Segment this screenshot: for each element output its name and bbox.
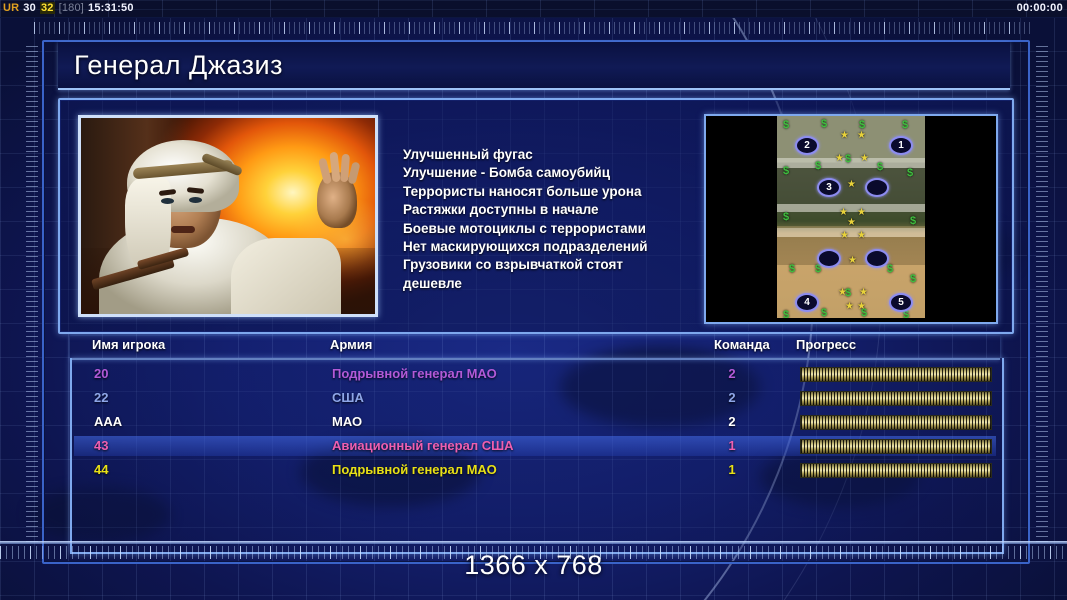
tech-building-icon: ★ <box>847 218 856 228</box>
supply-dock-icon: $ <box>783 212 789 223</box>
supply-dock-icon: $ <box>887 264 893 275</box>
match-timer: 00:00:00 <box>1017 1 1063 16</box>
cell-army: Подрывной генерал МАО <box>332 458 497 482</box>
supply-dock-icon: $ <box>845 154 851 165</box>
supply-dock-icon: $ <box>783 120 789 131</box>
progress-fill <box>801 392 991 405</box>
start-position-2[interactable]: 2 <box>795 136 819 155</box>
tech-building-icon: ★ <box>860 154 869 164</box>
cell-progress-bar <box>800 391 992 406</box>
tech-building-icon: ★ <box>840 131 849 141</box>
cell-army: Авиационный генерал США <box>332 434 514 458</box>
cell-team: 2 <box>720 386 744 410</box>
cell-progress-bar <box>800 463 992 478</box>
progress-fill <box>801 368 991 381</box>
supply-dock-icon: $ <box>783 166 789 177</box>
tech-building-icon: ★ <box>847 180 856 190</box>
tech-building-icon: ★ <box>835 154 844 164</box>
table-body: 20Подрывной генерал МАО222США2AAAМАО243А… <box>70 358 1004 554</box>
cell-player-name: 22 <box>94 386 108 410</box>
start-position-3[interactable]: 3 <box>817 178 841 197</box>
minimap-letterbox: $$$$$$$$$$$$$$$$$$$$★★★★★★★★★★★★★★★21345 <box>706 116 996 322</box>
start-position-4[interactable]: 4 <box>795 293 819 312</box>
stat-clock: 15:31:50 <box>88 2 134 14</box>
description-line: Грузовики со взрывчаткой стоят <box>403 256 703 274</box>
cell-team: 2 <box>720 362 744 386</box>
general-portrait <box>78 115 378 317</box>
table-row[interactable]: AAAМАО2 <box>72 410 998 434</box>
description-line: Растяжки доступны в начале <box>403 201 703 219</box>
stat-ur-label: UR <box>3 2 19 14</box>
description-line: Боевые мотоциклы с террористами <box>403 220 703 238</box>
game-lobby-screen: UR3032[180]15:31:50 00:00:00 Генерал Джа… <box>0 0 1067 600</box>
cell-progress-bar <box>800 415 992 430</box>
supply-dock-icon: $ <box>910 274 916 285</box>
footer-divider <box>0 541 1067 544</box>
tech-building-icon: ★ <box>859 288 868 298</box>
cell-player-name: 20 <box>94 362 108 386</box>
cell-team: 1 <box>720 434 744 458</box>
start-position-empty[interactable] <box>865 178 889 197</box>
cell-player-name: AAA <box>94 410 122 434</box>
cell-progress-bar <box>800 439 992 454</box>
tech-building-icon: ★ <box>848 256 857 266</box>
supply-dock-icon: $ <box>789 264 795 275</box>
general-description: Улучшенный фугас Улучшение - Бомба самоу… <box>403 146 703 293</box>
start-position-empty[interactable] <box>817 249 841 268</box>
supply-dock-icon: $ <box>815 161 821 172</box>
supply-dock-icon: $ <box>877 162 883 173</box>
ruler-right <box>1036 46 1048 546</box>
progress-fill <box>801 464 991 477</box>
cell-player-name: 44 <box>94 458 108 482</box>
tech-building-icon: ★ <box>845 302 854 312</box>
table-row[interactable]: 43Авиационный генерал США1 <box>72 434 998 458</box>
tech-building-icon: ★ <box>838 288 847 298</box>
tech-building-icon: ★ <box>857 131 866 141</box>
description-line: Улучшение - Бомба самоубийц <box>403 164 703 182</box>
description-line: Нет маскирующихся подразделений <box>403 238 703 256</box>
page-title: Генерал Джазиз <box>74 45 283 85</box>
cell-army: МАО <box>332 410 362 434</box>
column-header-name: Имя игрока <box>92 336 165 354</box>
start-position-1[interactable]: 1 <box>889 136 913 155</box>
supply-dock-icon: $ <box>902 120 908 131</box>
column-header-progress: Прогресс <box>796 336 856 354</box>
cell-team: 2 <box>720 410 744 434</box>
cell-army: США <box>332 386 364 410</box>
ruler-left <box>26 46 38 546</box>
minimap-panel[interactable]: $$$$$$$$$$$$$$$$$$$$★★★★★★★★★★★★★★★21345 <box>704 114 998 324</box>
cell-progress-bar <box>800 367 992 382</box>
stat-ping: 32 <box>40 2 55 14</box>
progress-fill <box>801 416 991 429</box>
table-row[interactable]: 20Подрывной генерал МАО2 <box>72 362 998 386</box>
supply-dock-icon: $ <box>907 168 913 179</box>
stat-bracket: [180] <box>59 2 84 14</box>
stat-fps: 30 <box>23 2 36 14</box>
table-header-row: Имя игрока Армия Команда Прогресс <box>70 336 1000 360</box>
top-status-bar: UR3032[180]15:31:50 00:00:00 <box>0 0 1067 18</box>
player-table: Имя игрока Армия Команда Прогресс 20Подр… <box>70 336 1000 552</box>
start-position-empty[interactable] <box>865 249 889 268</box>
cell-player-name: 43 <box>94 434 108 458</box>
tech-building-icon: ★ <box>857 302 866 312</box>
supply-dock-icon: $ <box>910 216 916 227</box>
tech-building-icon: ★ <box>857 208 866 218</box>
column-header-army: Армия <box>330 336 372 354</box>
ruler-top <box>34 22 1034 34</box>
resolution-label: 1366 x 768 <box>0 548 1067 582</box>
cell-army: Подрывной генерал МАО <box>332 362 497 386</box>
network-stats: UR3032[180]15:31:50 <box>3 1 138 16</box>
description-line: Улучшенный фугас <box>403 146 703 164</box>
supply-dock-icon: $ <box>821 119 827 130</box>
table-row[interactable]: 22США2 <box>72 386 998 410</box>
cell-team: 1 <box>720 458 744 482</box>
tech-building-icon: ★ <box>857 231 866 241</box>
supply-dock-icon: $ <box>821 308 827 318</box>
minimap-terrain: $$$$$$$$$$$$$$$$$$$$★★★★★★★★★★★★★★★21345 <box>777 116 925 318</box>
description-line: Террористы наносят больше урона <box>403 183 703 201</box>
tech-building-icon: ★ <box>840 231 849 241</box>
progress-fill <box>801 440 991 453</box>
start-position-5[interactable]: 5 <box>889 293 913 312</box>
description-line: дешевле <box>403 275 703 293</box>
column-header-team: Команда <box>714 336 770 354</box>
table-row[interactable]: 44Подрывной генерал МАО1 <box>72 458 998 482</box>
supply-dock-icon: $ <box>783 310 789 318</box>
